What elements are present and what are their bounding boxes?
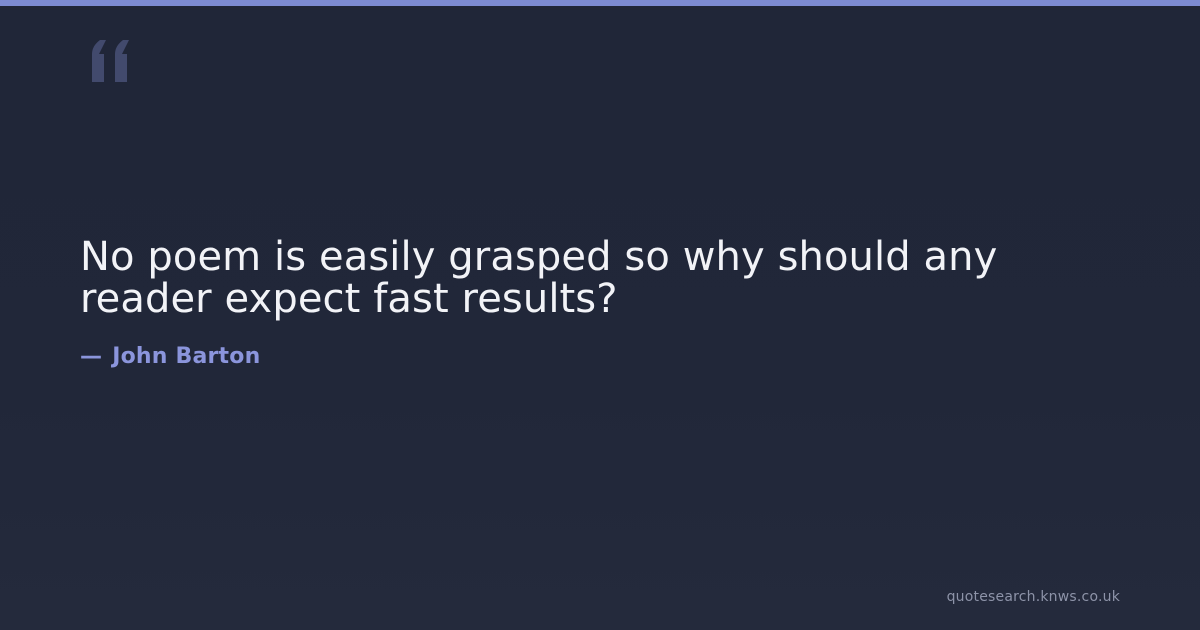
quote-text: No poem is easily grasped so why should …	[80, 236, 1090, 320]
quote-body: No poem is easily grasped so why should …	[80, 236, 1090, 320]
top-accent-bar	[0, 0, 1200, 6]
quote-attribution: — John Barton	[80, 344, 260, 369]
attribution-author: John Barton	[112, 344, 260, 369]
quote-card: No poem is easily grasped so why should …	[0, 0, 1200, 630]
double-quotation-mark-icon	[80, 38, 136, 82]
attribution-dash: —	[80, 344, 102, 369]
site-watermark: quotesearch.knws.co.uk	[947, 589, 1120, 605]
